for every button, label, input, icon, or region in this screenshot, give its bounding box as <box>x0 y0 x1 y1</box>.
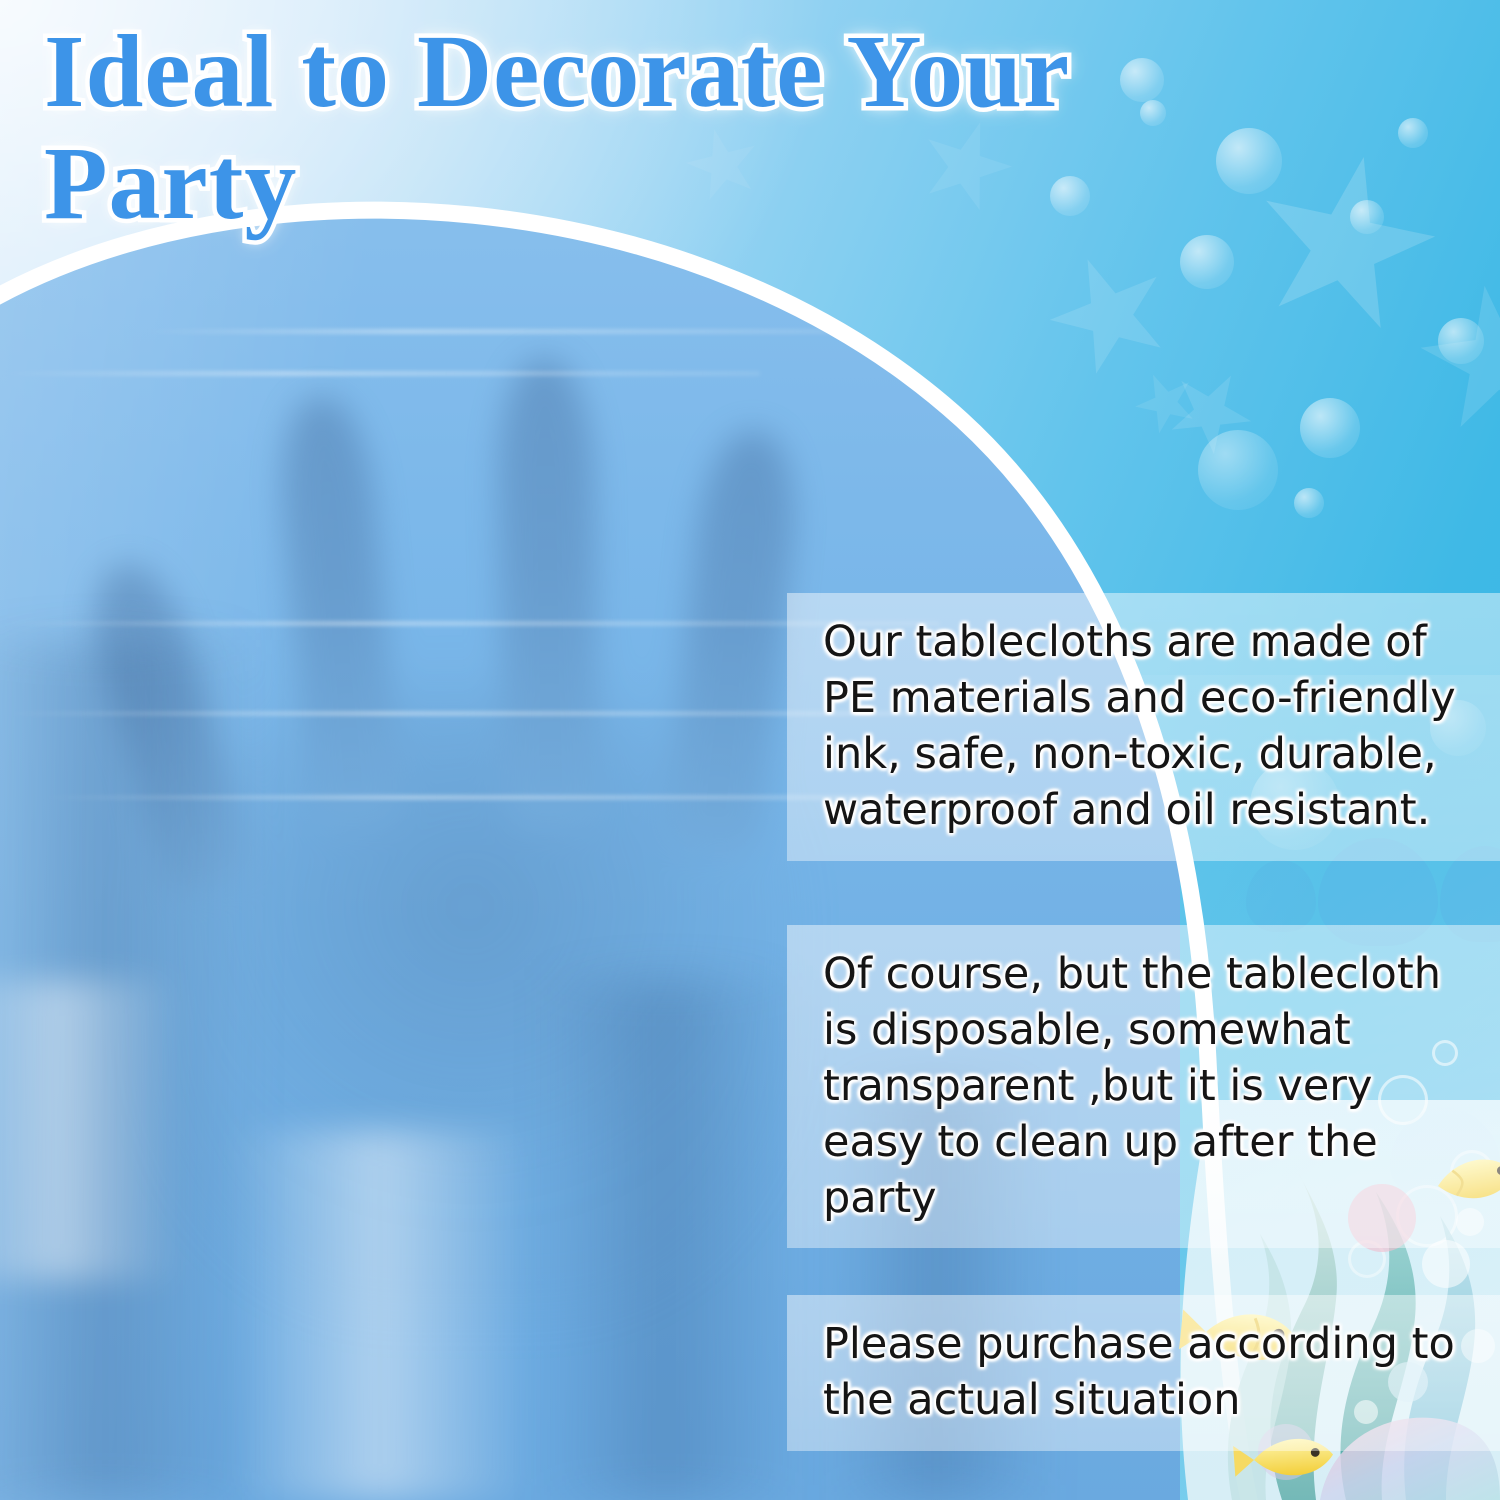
feature-panel-purchase-note: Please purchase according to the actual … <box>787 1295 1500 1451</box>
bubble-icon <box>1294 488 1324 518</box>
product-infographic: Ideal to Decorate Your Party Our tablecl… <box>0 0 1500 1500</box>
bubble-icon <box>1198 430 1278 510</box>
fabric-sheen <box>0 980 180 1280</box>
fabric-fold <box>540 980 800 1500</box>
bubble-icon <box>1180 235 1234 289</box>
bubble-icon <box>1438 318 1484 364</box>
water-blob <box>1246 860 1316 932</box>
bubble-icon <box>1300 398 1360 458</box>
starfish-icon <box>1032 237 1188 393</box>
feature-panel-purchase-note-text: Please purchase according to the actual … <box>823 1317 1474 1429</box>
feature-panel-disposable-text: Of course, but the tablecloth is disposa… <box>823 947 1474 1226</box>
feature-panel-materials: Our tablecloths are made of PE materials… <box>787 593 1500 861</box>
page-title-line-2: Party <box>44 126 297 241</box>
feature-panel-materials-text: Our tablecloths are made of PE materials… <box>823 615 1474 839</box>
fabric-crease <box>140 330 840 333</box>
fabric-sheen <box>230 1130 530 1500</box>
page-title: Ideal to Decorate Your Party <box>44 16 1464 241</box>
page-title-line-1: Ideal to Decorate Your <box>44 14 1070 129</box>
feature-panel-disposable: Of course, but the tablecloth is disposa… <box>787 925 1500 1248</box>
fabric-crease <box>0 372 760 375</box>
